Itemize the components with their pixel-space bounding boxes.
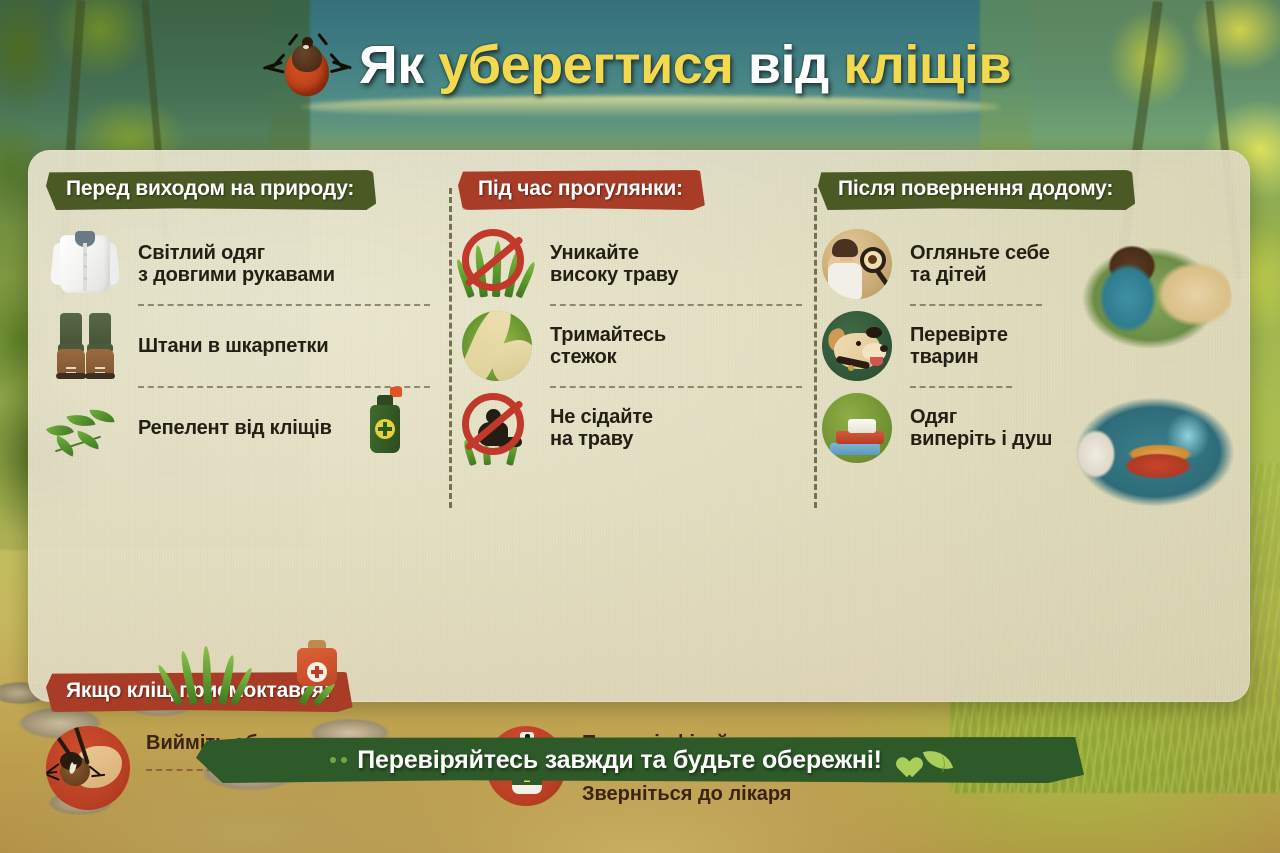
column-1-heading: Перед виходом на природу: xyxy=(46,170,376,210)
list-item-label: Одяг виперіть і душ xyxy=(910,406,1052,451)
list-item: Не сідайте на траву xyxy=(458,388,808,468)
title-part-2: уберегтися xyxy=(438,35,733,95)
list-item-label-line2: тварин xyxy=(910,346,1008,368)
footer-banner: Перевіряйтесь завжди та будьте обережні! xyxy=(196,737,1084,783)
heart-icon xyxy=(892,749,916,771)
list-item-label-line1: Одяг xyxy=(910,406,1052,428)
list-item-label: Не сідайте на траву xyxy=(550,406,653,451)
title-part-4: кліщів xyxy=(843,35,1011,95)
list-item-label-line1: Тримайтесь xyxy=(550,324,666,346)
list-item-label: Уникайте високу траву xyxy=(550,242,678,287)
list-item-label-line2: виперіть і душ xyxy=(910,428,1052,450)
list-item-label: Перевірте тварин xyxy=(910,324,1008,369)
list-item-label-line2: на траву xyxy=(550,428,653,450)
first-aid-bag-icon xyxy=(292,640,344,702)
bottom-item-label: Зверніться до лікаря xyxy=(582,783,842,806)
tick-removal-tweezers-icon xyxy=(46,726,134,814)
infographic-poster: Як уберегтися від кліщів Перед виходом н… xyxy=(0,0,1280,853)
poster-title-row: Як уберегтися від кліщів xyxy=(0,28,1280,102)
column-during-walk: Під час прогулянки: xyxy=(458,170,808,468)
list-item-label: Тримайтесь стежок xyxy=(550,324,666,369)
footer-text: Перевіряйтесь завжди та будьте обережні! xyxy=(357,746,881,775)
list-item-label-line2: та дітей xyxy=(910,264,1050,286)
list-item-label-line2: стежок xyxy=(550,346,666,368)
laundry-stack-icon xyxy=(818,389,896,467)
list-item: Світлий одяг з довгими рукавами xyxy=(46,224,436,304)
boots-icon xyxy=(46,307,124,385)
column-before-going-out: Перед виходом на природу: xyxy=(46,170,436,468)
boy-with-dog-photo xyxy=(1070,236,1232,360)
list-item-label-line1: Перевірте xyxy=(910,324,1008,346)
column-2-heading: Під час прогулянки: xyxy=(458,170,705,210)
trail-path-icon xyxy=(458,307,536,385)
list-item-label-line2: з довгими рукавами xyxy=(138,264,335,286)
list-item-label-line1: Репелент від кліщів xyxy=(138,417,332,439)
list-item-label: Репелент від кліщів xyxy=(138,417,332,439)
list-item: Репелент від кліщів xyxy=(46,388,436,468)
page-title: Як уберегтися від кліщів xyxy=(359,34,1011,96)
list-item-label-line1: Не сідайте xyxy=(550,406,653,428)
list-item: Штани в шкарпетки xyxy=(46,306,436,386)
dog-check-icon xyxy=(818,307,896,385)
list-item-label-line1: Штани в шкарпетки xyxy=(138,335,328,357)
column-2-rows: Уникайте високу траву xyxy=(458,224,808,468)
column-3-heading: Після повернення додому: xyxy=(818,170,1135,210)
title-part-3: від xyxy=(733,35,843,95)
no-tall-grass-icon xyxy=(458,225,536,303)
white-shirt-icon xyxy=(46,225,124,303)
list-item-label-line1: Світлий одяг xyxy=(138,242,335,264)
list-item-label-line1: Уникайте xyxy=(550,242,678,264)
list-item-label-line1: Огляньте себе xyxy=(910,242,1050,264)
title-part-1: Як xyxy=(359,35,438,95)
leaf-icon xyxy=(923,745,953,775)
repellent-bottle-icon xyxy=(346,389,410,467)
list-item-label-line2: високу траву xyxy=(550,264,678,286)
tick-icon xyxy=(269,28,345,102)
columns-container: Перед виходом на природу: xyxy=(28,150,1250,702)
list-item-label: Огляньте себе та дітей xyxy=(910,242,1050,287)
list-item-label: Світлий одяг з довгими рукавами xyxy=(138,242,335,287)
list-item: Уникайте високу траву xyxy=(458,224,808,304)
column-divider-1 xyxy=(449,188,452,508)
footer-dots xyxy=(330,757,347,763)
shower-laundry-photo xyxy=(1070,392,1240,512)
list-item: Тримайтесь стежок xyxy=(458,306,808,386)
column-1-rows: Світлий одяг з довгими рукавами xyxy=(46,224,436,468)
list-item-label: Штани в шкарпетки xyxy=(138,335,328,357)
self-inspection-icon xyxy=(818,225,896,303)
column-divider-2 xyxy=(814,188,817,508)
leaf-sprig-icon xyxy=(46,389,124,467)
no-sitting-on-grass-icon xyxy=(458,389,536,467)
